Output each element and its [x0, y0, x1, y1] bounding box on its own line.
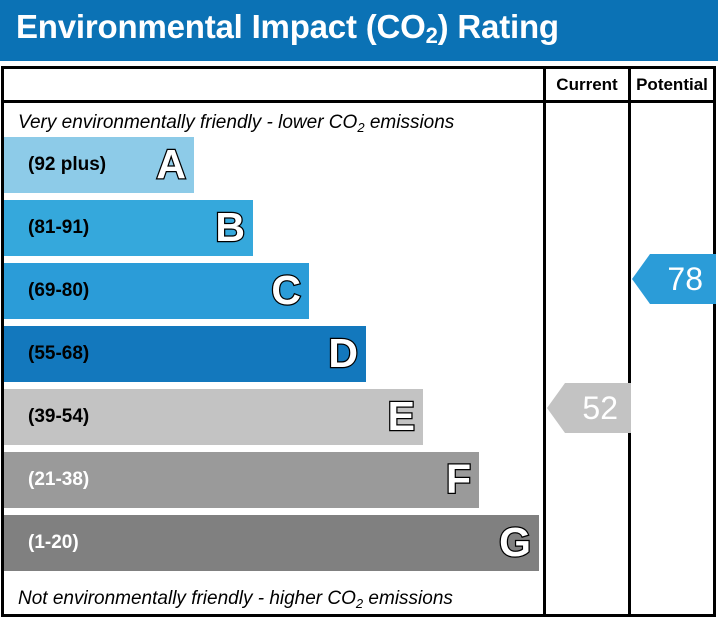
rating-band-c: (69-80)C	[4, 263, 309, 319]
rating-band-b: (81-91)B	[4, 200, 253, 256]
caption-top-subscript: 2	[357, 120, 364, 135]
rating-band-d: (55-68)D	[4, 326, 366, 382]
band-range-label: (69-80)	[28, 263, 89, 319]
caption-bottom: Not environmentally friendly - higher CO…	[18, 588, 453, 610]
band-letter-e: E	[388, 389, 415, 445]
caption-bottom-suffix: emissions	[363, 588, 453, 609]
band-range-label: (1-20)	[28, 515, 79, 571]
caption-top-suffix: emissions	[365, 112, 455, 133]
band-letter-c: C	[271, 263, 301, 319]
environmental-impact-rating-chart: Environmental Impact (CO2) Rating Curren…	[0, 0, 718, 619]
band-letter-f: F	[446, 452, 471, 508]
header-divider	[4, 100, 713, 103]
current-column-divider	[543, 69, 546, 614]
title-suffix: ) Rating	[438, 8, 559, 45]
band-range-label: (39-54)	[28, 389, 89, 445]
chart-title-bar: Environmental Impact (CO2) Rating	[0, 0, 718, 61]
title-subscript: 2	[426, 23, 438, 48]
rating-band-a: (92 plus)A	[4, 137, 194, 193]
rating-bands: (92 plus)A(81-91)B(69-80)C(55-68)D(39-54…	[4, 137, 540, 579]
caption-top: Very environmentally friendly - lower CO…	[18, 112, 454, 134]
band-range-label: (81-91)	[28, 200, 89, 256]
band-range-label: (21-38)	[28, 452, 89, 508]
band-range-label: (92 plus)	[28, 137, 106, 193]
band-letter-a: A	[156, 137, 186, 193]
caption-bottom-prefix: Not environmentally friendly - higher CO	[18, 588, 356, 609]
band-range-label: (55-68)	[28, 326, 89, 382]
band-letter-g: G	[499, 515, 531, 571]
band-letter-b: B	[215, 200, 245, 256]
rating-band-f: (21-38)F	[4, 452, 479, 508]
column-header-potential: Potential	[631, 69, 713, 100]
band-letter-d: D	[328, 326, 358, 382]
rating-band-g: (1-20)G	[4, 515, 539, 571]
current-rating-arrow: 52	[547, 383, 631, 433]
column-header-current: Current	[546, 69, 628, 100]
caption-top-prefix: Very environmentally friendly - lower CO	[18, 112, 357, 133]
page-title: Environmental Impact (CO2) Rating	[16, 8, 559, 46]
caption-bottom-subscript: 2	[356, 596, 363, 611]
potential-rating-arrow: 78	[632, 254, 716, 304]
title-prefix: Environmental Impact (CO	[16, 8, 426, 45]
potential-column-divider	[628, 69, 631, 614]
rating-band-e: (39-54)E	[4, 389, 423, 445]
rating-table: Current Potential Very environmentally f…	[1, 66, 716, 617]
